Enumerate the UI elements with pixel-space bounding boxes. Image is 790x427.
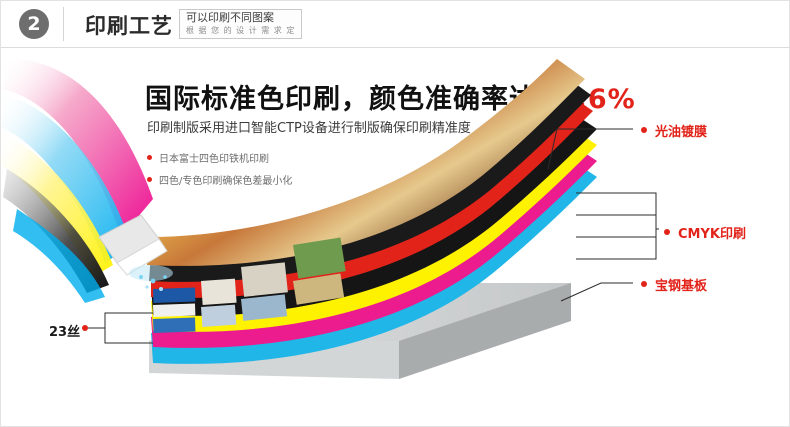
callout-varnish-label: 光油镀膜: [655, 125, 707, 140]
callout-cmyk: CMYK印刷: [664, 223, 746, 242]
red-dot-icon: [664, 229, 670, 235]
spray-nozzle: [99, 215, 173, 291]
red-dot-icon: [641, 127, 647, 133]
callout-thickness: 23丝: [49, 321, 80, 340]
red-dot-icon: [641, 281, 647, 287]
callout-steel: 宝钢基板: [641, 275, 707, 294]
callout-steel-label: 宝钢基板: [655, 279, 707, 294]
callout-cmyk-label: CMYK印刷: [678, 227, 746, 242]
layered-print-illustration: [1, 1, 790, 427]
callout-varnish: 光油镀膜: [641, 121, 707, 140]
page-root: 2 印刷工艺 可以印刷不同图案 根 据 您 的 设 计 需 求 定: [0, 0, 790, 427]
